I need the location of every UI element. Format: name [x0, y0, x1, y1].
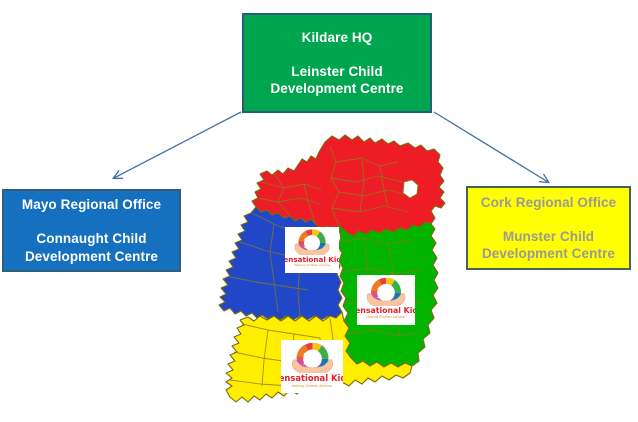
kildare-hq-subtitle-line2: Development Centre [270, 80, 403, 97]
kildare-hq-subtitle-line1: Leinster Child [291, 64, 382, 79]
mayo-office-subtitle-line1: Connaught Child [36, 231, 146, 246]
mayo-regional-office-box[interactable]: Mayo Regional Office Connaught Child Dev… [2, 189, 181, 272]
arrow-hq-to-cork [434, 112, 548, 182]
kildare-hq-subtitle: Leinster Child Development Centre [270, 63, 403, 98]
rainbow-hands-icon [364, 275, 408, 306]
rainbow-hands-icon [292, 227, 332, 255]
cork-office-subtitle: Munster Child Development Centre [482, 228, 615, 263]
cork-office-subtitle-line2: Development Centre [482, 245, 615, 262]
mayo-office-subtitle: Connaught Child Development Centre [25, 230, 158, 265]
logo-tagline: Helping Children Achieve [367, 316, 405, 319]
kildare-hq-box[interactable]: Kildare HQ Leinster Child Development Ce… [242, 13, 432, 113]
sensational-kids-logo-connacht: Sensational Kids Helping Children Achiev… [285, 227, 339, 273]
sensational-kids-logo-leinster: Sensational Kids Helping Children Achiev… [357, 275, 415, 325]
cork-office-subtitle-line1: Munster Child [503, 229, 594, 244]
mayo-office-subtitle-line2: Development Centre [25, 248, 158, 265]
cork-regional-office-box[interactable]: Cork Regional Office Munster Child Devel… [466, 186, 631, 270]
logo-wordmark: Sensational Kids [281, 374, 343, 382]
mayo-office-title: Mayo Regional Office [22, 196, 161, 213]
sensational-kids-logo-munster: Sensational Kids Helping Children Achiev… [281, 340, 343, 393]
logo-wordmark: Sensational Kids [285, 256, 339, 263]
kildare-hq-title: Kildare HQ [302, 29, 373, 46]
cork-office-title: Cork Regional Office [481, 194, 617, 211]
diagram-canvas: Sensational Kids Helping Children Achiev… [0, 0, 638, 422]
rainbow-hands-icon [289, 340, 336, 373]
logo-wordmark: Sensational Kids [357, 307, 415, 315]
logo-tagline: Helping Children Achieve [294, 264, 330, 267]
logo-tagline: Helping Children Achieve [292, 384, 333, 387]
